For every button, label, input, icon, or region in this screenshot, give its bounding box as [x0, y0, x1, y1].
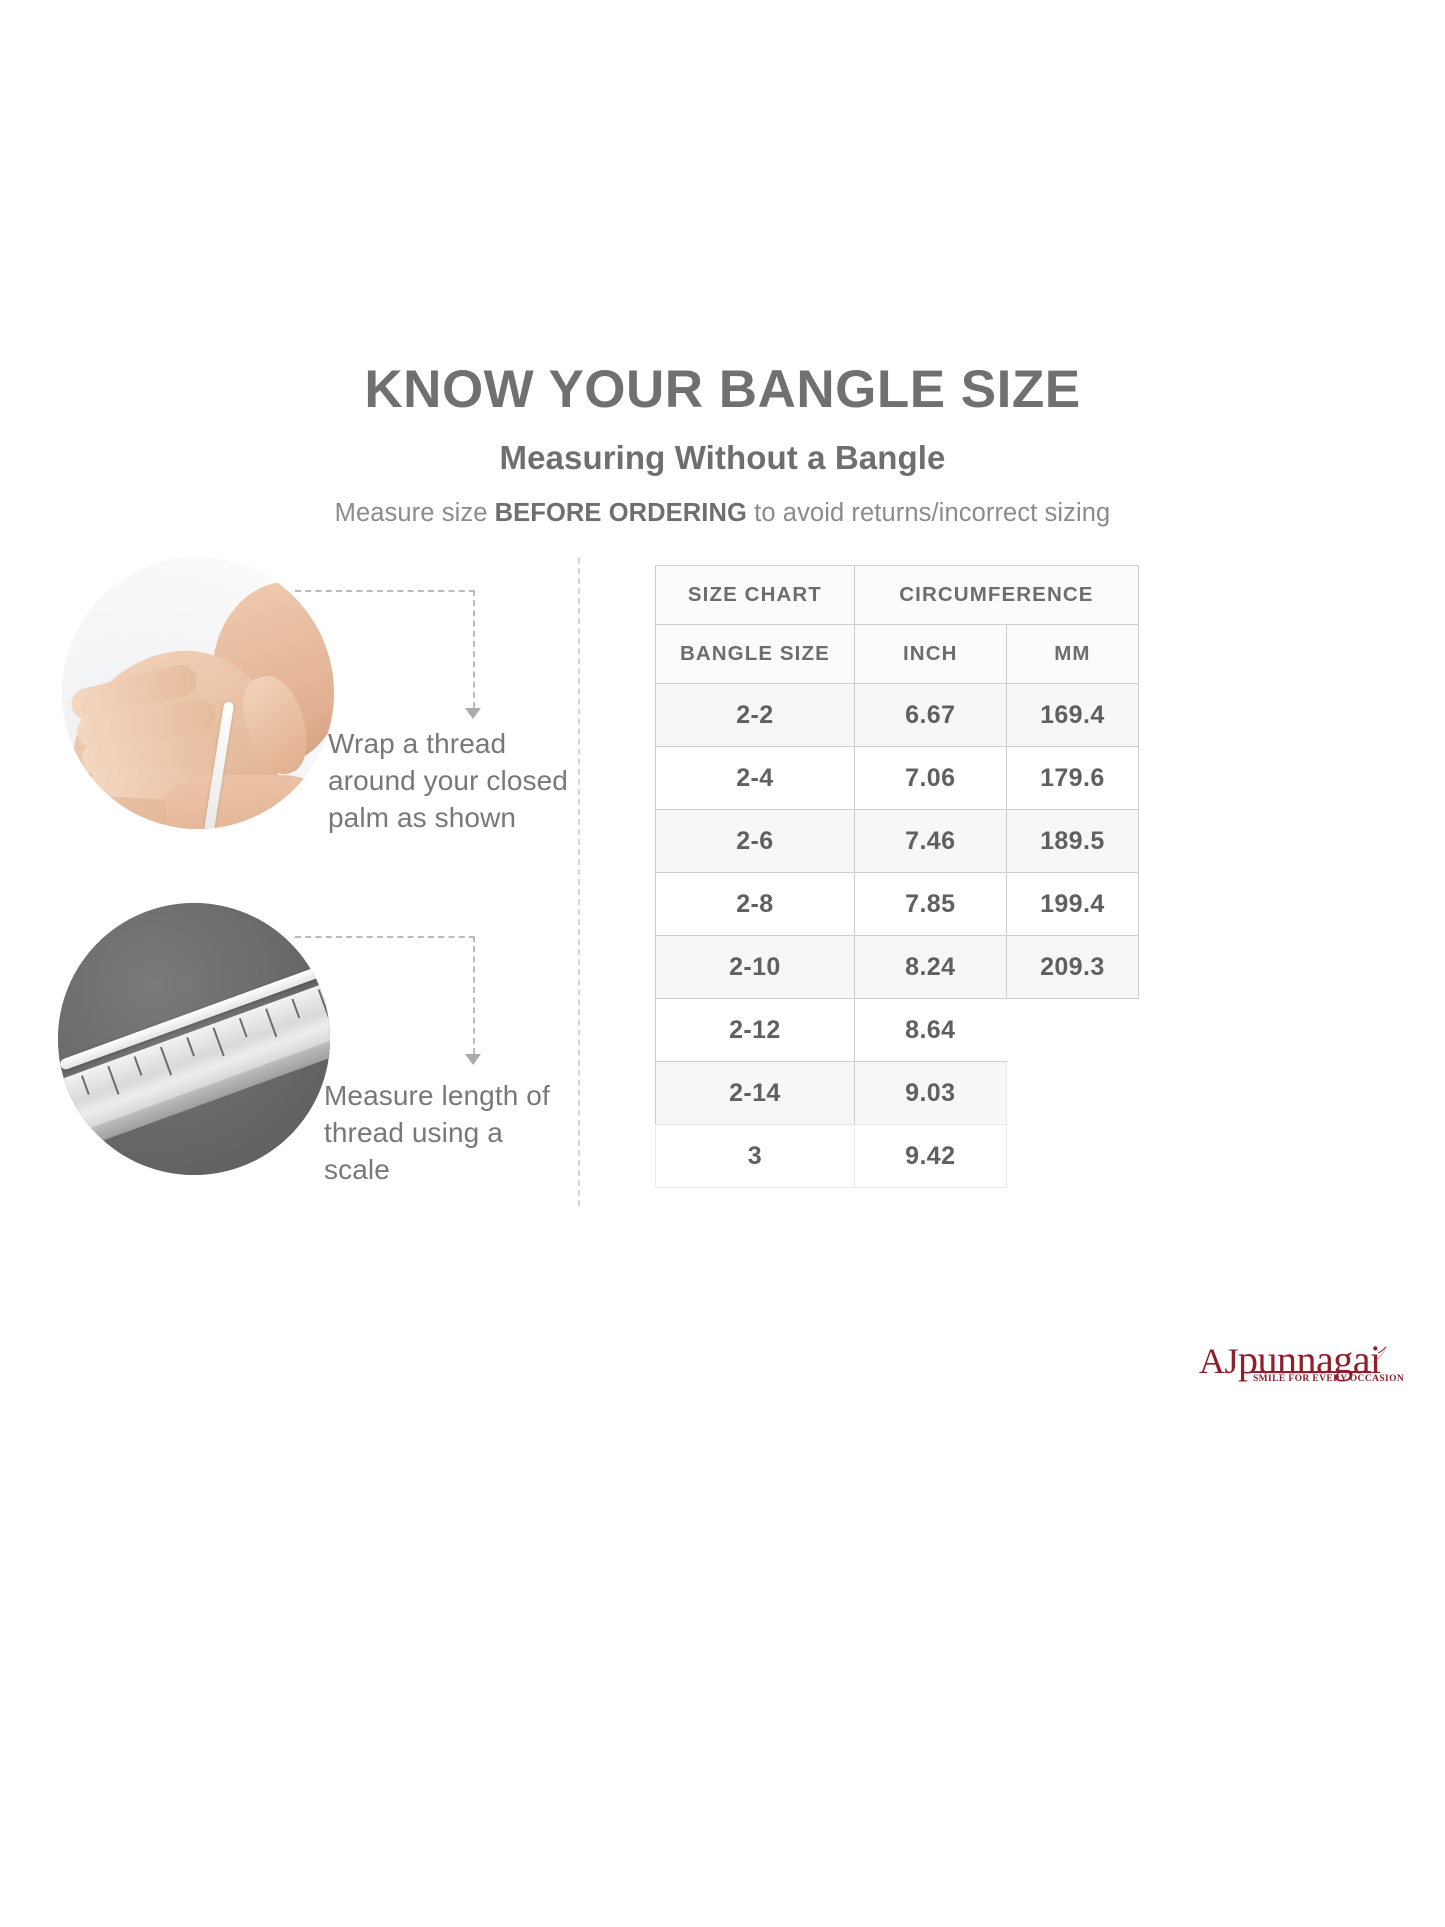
- cell-mm: 199.4: [1006, 873, 1138, 936]
- connector-arrowhead-icon: [465, 708, 481, 719]
- ruler-tick: [160, 1047, 172, 1076]
- hands-wrapping-thread-photo: [62, 557, 334, 829]
- column-header-inch: INCH: [854, 625, 1006, 684]
- ruler-tick: [186, 1037, 195, 1056]
- ruler-tick: [213, 1028, 225, 1057]
- leaf-icon: [1367, 1344, 1389, 1366]
- cell-inch: 7.06: [854, 747, 1006, 810]
- table-row: 2-2 6.67 169.4: [656, 684, 1139, 747]
- cell-inch: 9.42: [854, 1125, 1006, 1188]
- ruler-tick: [81, 1075, 90, 1094]
- bangle-size-table: SIZE CHART CIRCUMFERENCE BANGLE SIZE INC…: [655, 565, 1139, 1188]
- connector-horizontal-segment: [295, 590, 475, 592]
- cell-bangle-size: 2-4: [656, 747, 855, 810]
- notice-emphasis: BEFORE ORDERING: [495, 499, 747, 527]
- cell-mm: [1006, 1062, 1138, 1125]
- cell-inch: 9.03: [854, 1062, 1006, 1125]
- measuring-steps: Wrap a thread around your closed palm as…: [0, 548, 600, 1228]
- logo-underline: [1251, 1371, 1371, 1373]
- cell-mm: 189.5: [1006, 810, 1138, 873]
- connector-vertical-segment: [473, 590, 475, 708]
- ruler-tick: [58, 1085, 67, 1114]
- table-row: 3 9.42: [656, 1125, 1139, 1188]
- table-row: 2-6 7.46 189.5: [656, 810, 1139, 873]
- cell-mm: 209.3: [1006, 936, 1138, 999]
- group-header-size-chart: SIZE CHART: [656, 566, 855, 625]
- cell-mm: [1006, 1125, 1138, 1188]
- cell-bangle-size: 2-2: [656, 684, 855, 747]
- notice-suffix: to avoid returns/incorrect sizing: [747, 499, 1110, 527]
- table-row: 2-14 9.03: [656, 1062, 1139, 1125]
- cell-mm: 179.6: [1006, 747, 1138, 810]
- column-header-bangle-size: BANGLE SIZE: [656, 625, 855, 684]
- cell-mm: 169.4: [1006, 684, 1138, 747]
- ruler-tick: [292, 999, 301, 1018]
- ruler-tick: [107, 1066, 119, 1095]
- table-row: 2-12 8.64: [656, 999, 1139, 1062]
- ruler-tick: [265, 1008, 277, 1037]
- table-column-header-row: BANGLE SIZE INCH MM: [656, 625, 1139, 684]
- table-row: 2-8 7.85 199.4: [656, 873, 1139, 936]
- section-divider: [578, 558, 580, 1206]
- ordering-notice: Measure size BEFORE ORDERING to avoid re…: [0, 499, 1445, 528]
- column-header-mm: MM: [1006, 625, 1138, 684]
- cell-bangle-size: 2-10: [656, 936, 855, 999]
- table-row: 2-4 7.06 179.6: [656, 747, 1139, 810]
- ruler-tick: [134, 1056, 143, 1075]
- ruler-tick: [239, 1018, 248, 1037]
- group-header-circumference: CIRCUMFERENCE: [854, 566, 1138, 625]
- cell-inch: 7.46: [854, 810, 1006, 873]
- logo-wordmark-prefix: AJ: [1199, 1341, 1238, 1381]
- cell-inch: 6.67: [854, 684, 1006, 747]
- step-1-caption: Wrap a thread around your closed palm as…: [328, 726, 568, 837]
- page-title: KNOW YOUR BANGLE SIZE: [0, 360, 1445, 419]
- table-group-header-row: SIZE CHART CIRCUMFERENCE: [656, 566, 1139, 625]
- connector-horizontal-segment: [295, 936, 475, 938]
- cell-bangle-size: 3: [656, 1125, 855, 1188]
- logo-tagline: SMILE FOR EVERY OCCASION: [1253, 1374, 1404, 1384]
- wrist-shape: [166, 775, 326, 829]
- notice-prefix: Measure size: [335, 499, 495, 527]
- cell-bangle-size: 2-14: [656, 1062, 855, 1125]
- cell-inch: 7.85: [854, 873, 1006, 936]
- page-subtitle: Measuring Without a Bangle: [0, 439, 1445, 477]
- cell-mm: [1006, 999, 1138, 1062]
- ruler-tick: [318, 989, 330, 1018]
- step-2-caption: Measure length of thread using a scale: [324, 1078, 572, 1189]
- cell-bangle-size: 2-8: [656, 873, 855, 936]
- brand-logo: AJpunnagai SMILE FOR EVERY OCCASION: [1199, 1340, 1389, 1404]
- cell-bangle-size: 2-6: [656, 810, 855, 873]
- connector-arrowhead-icon: [465, 1054, 481, 1065]
- thread-on-ruler-photo: [58, 903, 330, 1175]
- cell-inch: 8.24: [854, 936, 1006, 999]
- connector-vertical-segment: [473, 936, 475, 1054]
- cell-bangle-size: 2-12: [656, 999, 855, 1062]
- header: KNOW YOUR BANGLE SIZE Measuring Without …: [0, 360, 1445, 528]
- cell-inch: 8.64: [854, 999, 1006, 1062]
- table-row: 2-10 8.24 209.3: [656, 936, 1139, 999]
